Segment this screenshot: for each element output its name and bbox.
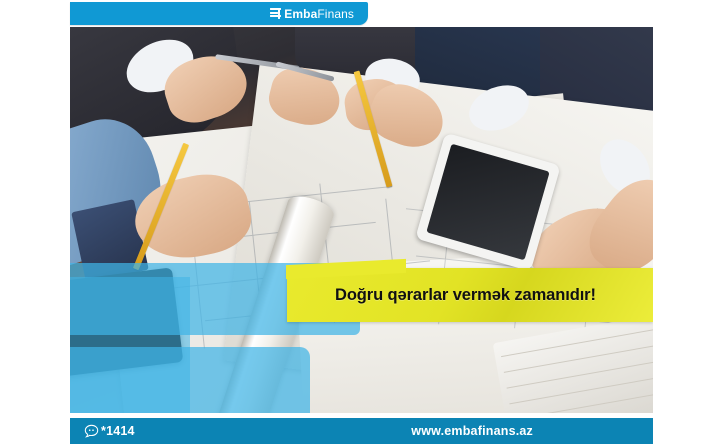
hero-photo-artwork: Doğru qərarlar vermək zamanıdır!: [70, 27, 653, 413]
footer-contact[interactable]: *1414: [70, 424, 135, 439]
hero-photo: Doğru qərarlar vermək zamanıdır!: [70, 27, 653, 413]
footer-bar: *1414 www.embafinans.az: [70, 418, 653, 444]
cyan-overlay-shape: [70, 347, 310, 413]
headline-text: Doğru qərarlar vermək zamanıdır!: [287, 286, 596, 305]
embafinans-bars-icon: [270, 8, 281, 19]
footer-website-url[interactable]: www.embafinans.az: [411, 424, 653, 438]
speech-bubble-icon: [84, 424, 99, 439]
embafinans-logo[interactable]: EmbaFinans: [270, 8, 368, 20]
footer-phone-number[interactable]: *1414: [101, 424, 135, 438]
banner-root: EmbaFinans: [0, 0, 720, 446]
logo-text-light: Finans: [317, 7, 354, 21]
logo-wordmark: EmbaFinans: [284, 8, 354, 20]
logo-text-bold: Emba: [284, 7, 317, 21]
headline-banner: Doğru qərarlar vermək zamanıdır!: [287, 268, 653, 322]
header-bar: EmbaFinans: [70, 2, 368, 25]
